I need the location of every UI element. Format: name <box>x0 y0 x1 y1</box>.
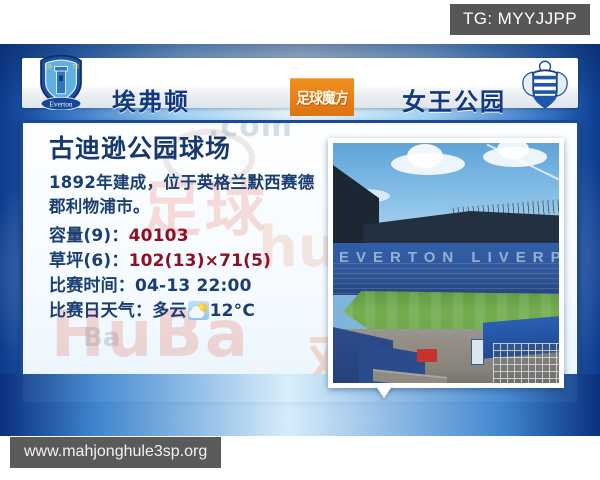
capacity-row: 容量(9)：40103 <box>49 224 331 249</box>
main-blue-body: 18 78 Everton 埃弗顿 足球魔方 女王公园 <box>0 44 600 436</box>
everton-crest-icon: 18 78 Everton <box>32 52 90 110</box>
pitch-size-label: 草坪(6)： <box>49 251 129 271</box>
screenshot-root: TG: MYYJJPP 18 78 Everton 埃弗顿 足球魔方 女王公园 <box>0 0 600 480</box>
weather-condition: 多云 <box>152 301 186 321</box>
metal-fence <box>493 343 559 383</box>
red-equipment-box <box>417 349 437 362</box>
cloud-shape <box>189 310 204 318</box>
away-team-name: 女王公园 <box>402 82 506 117</box>
capacity-value: 40103 <box>129 226 189 246</box>
stand-lettering: EVERTON LIVERPOO <box>339 249 559 266</box>
pitch-size-value: 102(13)×71(5) <box>129 251 272 271</box>
telegram-watermark-badge: TG: MYYJJPP <box>450 4 590 35</box>
svg-text:Everton: Everton <box>50 100 73 108</box>
photo-callout-tail <box>375 385 393 398</box>
match-header-bar: 18 78 Everton 埃弗顿 足球魔方 女王公园 <box>22 58 578 108</box>
sponsor-badge[interactable]: 足球魔方 <box>290 78 354 116</box>
match-weather-row: 比赛日天气：多云12°C <box>49 299 331 324</box>
photo-canvas: EVERTON LIVERPOO <box>333 143 559 383</box>
qpr-crest-icon <box>516 54 574 112</box>
watermark-brand-small: Ba <box>83 323 120 353</box>
site-url-watermark: www.mahjonghule3sp.org <box>10 437 221 468</box>
stadium-description: 1892年建成，位于英格兰默西赛德郡利物浦市。 <box>49 171 331 219</box>
stadium-text-block: 古迪逊公园球场 1892年建成，位于英格兰默西赛德郡利物浦市。 容量(9)：40… <box>49 135 331 324</box>
stadium-title: 古迪逊公园球场 <box>49 135 331 164</box>
weather-label: 比赛日天气： <box>49 301 152 321</box>
stadium-info-panel: .com 足球 hu Ba HuBa 欢乐吧 古迪逊公园球场 1892年建成，位… <box>20 120 580 405</box>
partly-cloudy-icon <box>188 301 209 320</box>
home-team-name: 埃弗顿 <box>112 82 190 117</box>
weather-temp: 12°C <box>210 301 255 321</box>
svg-text:18: 18 <box>45 63 53 70</box>
capacity-label: 容量(9)： <box>49 226 129 246</box>
top-white-strip: TG: MYYJJPP <box>0 0 600 44</box>
pitch-size-row: 草坪(6)：102(13)×71(5) <box>49 249 331 274</box>
blue-sign-board <box>471 339 484 365</box>
goodison-park-photo: EVERTON LIVERPOO <box>328 138 564 388</box>
match-time-label: 比赛时间： <box>49 276 135 296</box>
match-time-row: 比赛时间：04-13 22:00 <box>49 274 331 299</box>
cloud-a <box>391 153 465 175</box>
svg-text:78: 78 <box>72 63 80 70</box>
panel-inner: .com 足球 hu Ba HuBa 欢乐吧 古迪逊公园球场 1892年建成，位… <box>23 123 577 402</box>
match-time-value: 04-13 22:00 <box>135 276 252 296</box>
sponsor-badge-label: 足球魔方 <box>296 87 348 108</box>
